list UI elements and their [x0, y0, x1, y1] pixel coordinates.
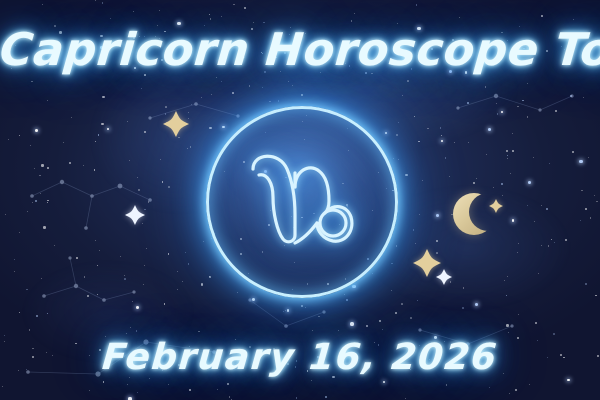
- page-title: Capricorn Horoscope Today: [0, 22, 600, 78]
- sparkle-gold-upper-left: [163, 111, 189, 137]
- horoscope-card: Capricorn Horoscope Today February 16, 2…: [0, 0, 600, 400]
- date-label: February 16, 2026: [0, 335, 600, 381]
- capricorn-glyph-icon: [237, 143, 361, 255]
- crescent-moon-icon: [448, 186, 504, 242]
- sparkle-white-right: [436, 269, 452, 285]
- sparkle-gold-moon: [489, 199, 503, 213]
- sparkle-white-left: [125, 205, 145, 225]
